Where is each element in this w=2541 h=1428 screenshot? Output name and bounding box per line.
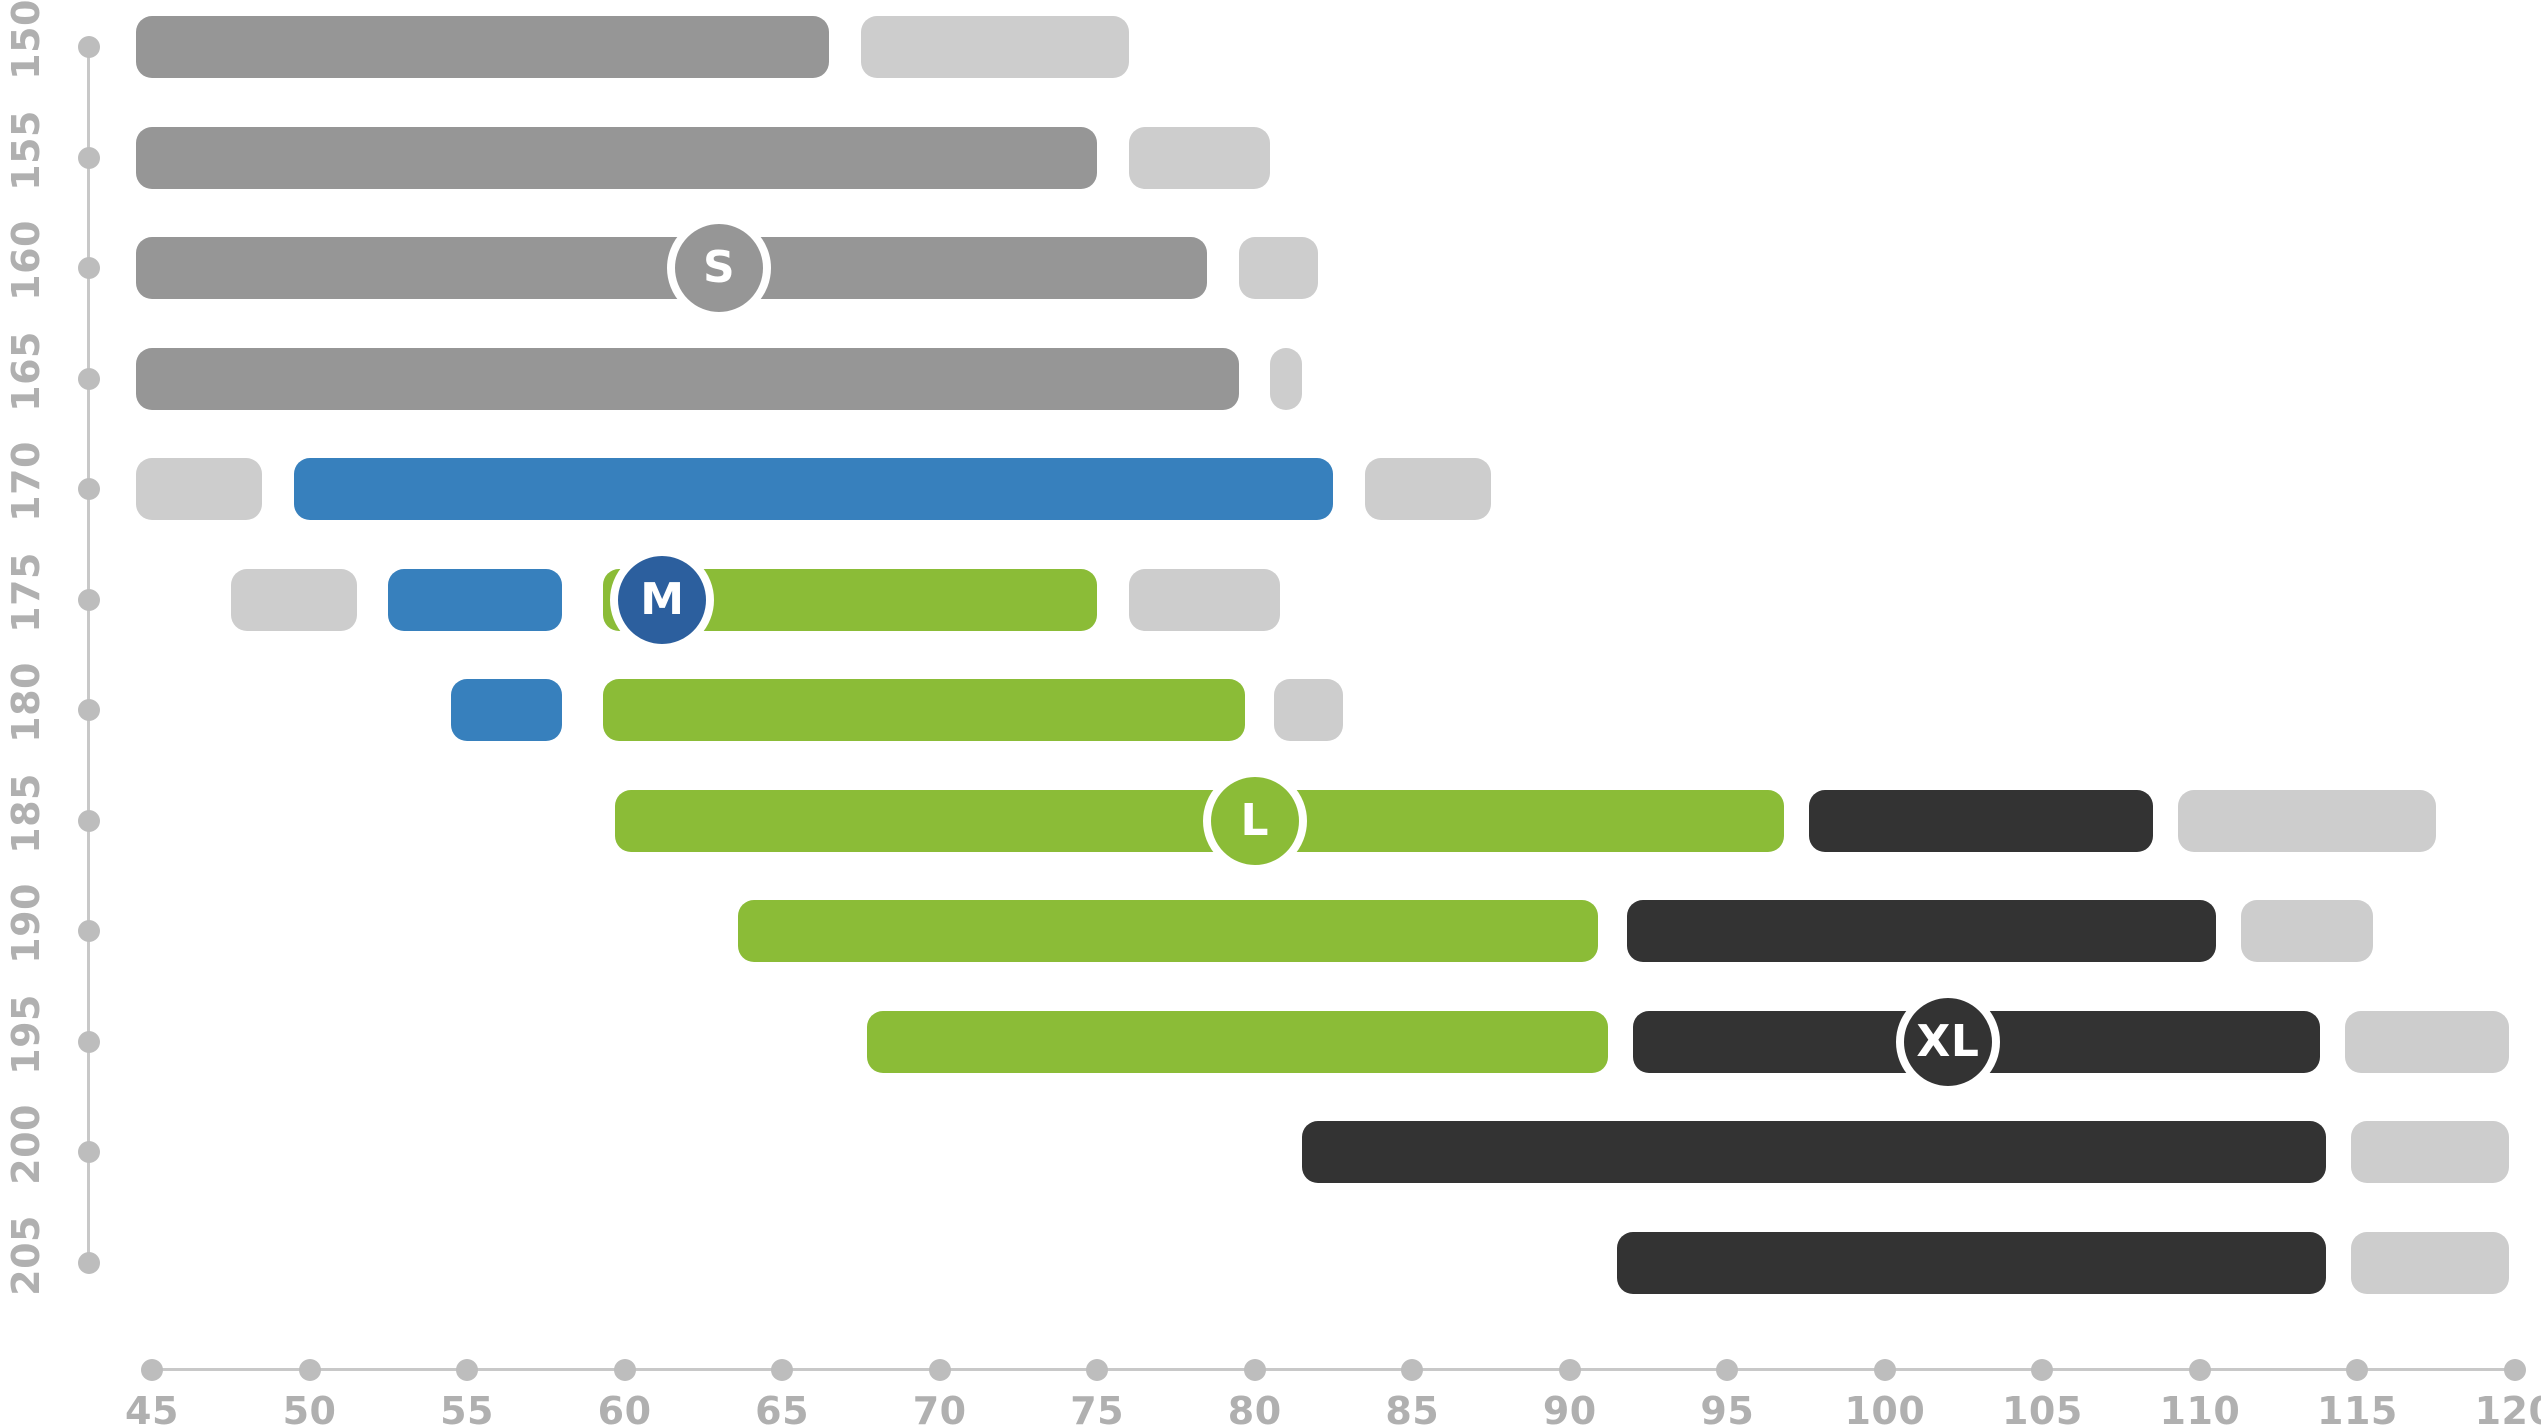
x-axis-tick-label: 95: [1657, 1389, 1797, 1428]
x-axis-tick-dot: [1559, 1359, 1581, 1381]
x-axis-tick-dot: [456, 1359, 478, 1381]
bar-segment-out-of-range[interactable]: [1274, 679, 1343, 741]
x-axis-tick-dot: [2346, 1359, 2368, 1381]
bar-segment-out-of-range[interactable]: [136, 458, 262, 520]
x-axis-tick-dot: [929, 1359, 951, 1381]
x-axis-tick-dot: [2504, 1359, 2526, 1381]
bar-segment-size-l[interactable]: [603, 679, 1246, 741]
x-axis-tick-dot: [1874, 1359, 1896, 1381]
x-axis-tick-label: 55: [397, 1389, 537, 1428]
bar-segment-out-of-range[interactable]: [2178, 790, 2436, 852]
x-axis-tick-label: 60: [555, 1389, 695, 1428]
size-badge-xl[interactable]: XL: [1896, 990, 2000, 1094]
x-axis-tick-label: 120: [2445, 1389, 2541, 1428]
bar-segment-out-of-range[interactable]: [2345, 1011, 2509, 1073]
bar-segment-size-xl[interactable]: [1809, 790, 2152, 852]
bar-segment-out-of-range[interactable]: [2351, 1121, 2509, 1183]
x-axis-tick-dot: [771, 1359, 793, 1381]
bar-segment-size-s[interactable]: [136, 127, 1097, 189]
x-axis-tick-label: 105: [1972, 1389, 2112, 1428]
size-badge-s[interactable]: S: [667, 216, 771, 320]
bar-segment-size-s[interactable]: [136, 16, 829, 78]
x-axis-tick-label: 80: [1185, 1389, 1325, 1428]
x-axis-tick-dot: [141, 1359, 163, 1381]
x-axis-tick-label: 100: [1815, 1389, 1955, 1428]
x-axis-tick-label: 75: [1027, 1389, 1167, 1428]
size-badge-m[interactable]: M: [610, 548, 714, 652]
bar-segment-out-of-range[interactable]: [231, 569, 357, 631]
x-axis-tick-dot: [1086, 1359, 1108, 1381]
bar-segment-out-of-range[interactable]: [861, 16, 1129, 78]
bar-segment-out-of-range[interactable]: [2241, 900, 2373, 962]
bar-segment-size-l[interactable]: [615, 790, 1784, 852]
x-axis-tick-label: 70: [870, 1389, 1010, 1428]
bar-segment-size-m[interactable]: [451, 679, 561, 741]
x-axis-tick-dot: [299, 1359, 321, 1381]
chart-plot-area: SMLXL: [0, 0, 2541, 1320]
bar-segment-size-s[interactable]: [136, 348, 1239, 410]
size-range-chart: 150155160165170175180185190195200205 SML…: [0, 0, 2541, 1428]
bar-segment-size-l[interactable]: [738, 900, 1598, 962]
bar-segment-out-of-range[interactable]: [1270, 348, 1302, 410]
x-axis-tick-dot: [2189, 1359, 2211, 1381]
x-axis-tick-dot: [1401, 1359, 1423, 1381]
x-axis: 4550556065707580859095100105110115120: [0, 1355, 2541, 1428]
bar-segment-size-l[interactable]: [867, 1011, 1607, 1073]
x-axis-tick-label: 115: [2287, 1389, 2427, 1428]
bar-segment-out-of-range[interactable]: [1239, 237, 1318, 299]
x-axis-tick-label: 110: [2130, 1389, 2270, 1428]
size-badge-l[interactable]: L: [1203, 769, 1307, 873]
x-axis-tick-label: 50: [240, 1389, 380, 1428]
x-axis-tick-label: 45: [82, 1389, 222, 1428]
x-axis-tick-label: 65: [712, 1389, 852, 1428]
bar-segment-out-of-range[interactable]: [1365, 458, 1491, 520]
bar-segment-size-m[interactable]: [294, 458, 1334, 520]
bar-segment-out-of-range[interactable]: [1129, 569, 1280, 631]
x-axis-tick-label: 90: [1500, 1389, 1640, 1428]
bar-segment-size-m[interactable]: [388, 569, 561, 631]
x-axis-tick-dot: [614, 1359, 636, 1381]
bar-segment-size-xl[interactable]: [1617, 1232, 2326, 1294]
x-axis-tick-dot: [2031, 1359, 2053, 1381]
bar-segment-size-xl[interactable]: [1302, 1121, 2326, 1183]
x-axis-tick-dot: [1716, 1359, 1738, 1381]
x-axis-tick-dot: [1244, 1359, 1266, 1381]
bar-segment-out-of-range[interactable]: [2351, 1232, 2509, 1294]
x-axis-line: [152, 1368, 2515, 1371]
bar-segment-out-of-range[interactable]: [1129, 127, 1271, 189]
bar-segment-size-xl[interactable]: [1627, 900, 2216, 962]
x-axis-tick-label: 85: [1342, 1389, 1482, 1428]
